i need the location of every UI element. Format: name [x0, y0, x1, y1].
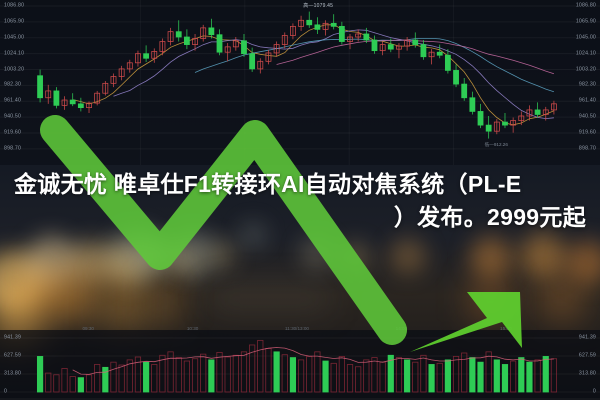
- stock-chart-promo-image: 1086.801065.901045.001024.101003.20982.3…: [0, 0, 600, 400]
- headline-line-1: 金诚无忧 唯卓仕F1转接环AI自动对焦系统（PL-E: [14, 171, 521, 197]
- page-title: 金诚无忧 唯卓仕F1转接环AI自动对焦系统（PL-E ）发布。2999元起: [14, 168, 586, 233]
- arrow-head: [410, 292, 522, 352]
- headline-line-2: ）发布。2999元起: [14, 201, 586, 234]
